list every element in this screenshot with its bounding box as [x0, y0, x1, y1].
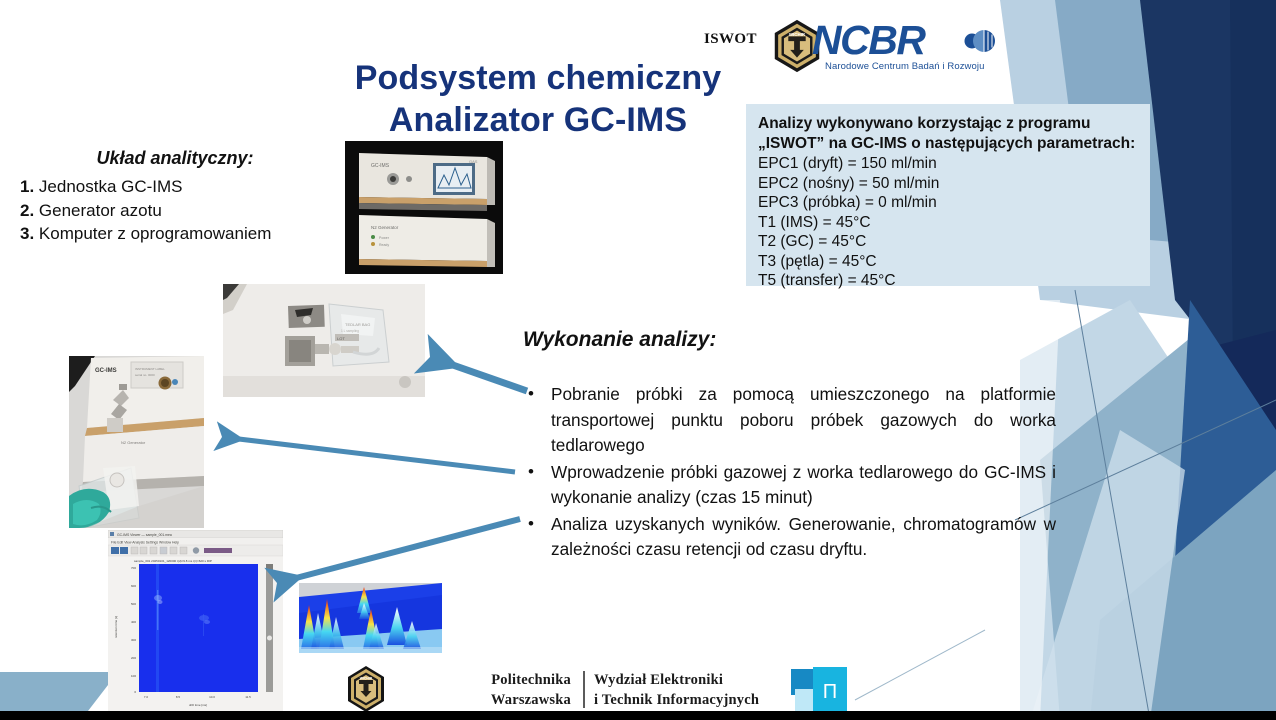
svg-text:GAS: GAS [469, 159, 478, 164]
iswot-label: ISWOT [704, 31, 757, 48]
param-line-t1: T1 (IMS) = 45°C [758, 213, 1150, 233]
list-item: • Pobranie próbki za pomocą umieszczoneg… [521, 382, 1056, 459]
svg-text:Ready: Ready [379, 243, 389, 247]
svg-text:7.0: 7.0 [144, 695, 149, 699]
bullet-icon: • [528, 381, 534, 407]
svg-text:GC-IMS: GC-IMS [95, 368, 117, 374]
svg-text:LOT: LOT [337, 336, 345, 341]
bg-shape-navy-top [1140, 0, 1276, 430]
uklad-item-number: 1. [20, 177, 34, 196]
svg-text:WICHIR: WICHIR [360, 677, 373, 681]
ncbr-dot-mark [964, 27, 1002, 55]
parameters-panel: Analizy wykonywano korzystając z program… [746, 104, 1150, 286]
svg-text:10.0: 10.0 [209, 695, 215, 699]
wykonanie-item-text: Analiza uzyskanych wyników. Generowanie,… [551, 514, 1056, 560]
svg-text:N2 Generator: N2 Generator [371, 225, 399, 230]
param-line-t3: T3 (pętla) = 45°C [758, 252, 1150, 272]
param-line-t5: T5 (transfer) = 45°C [758, 271, 1150, 291]
uklad-item-number: 3. [20, 224, 34, 243]
bullet-icon: • [528, 459, 534, 485]
ncbr-subtitle: Narodowe Centrum Badań i Rozwoju [825, 61, 985, 72]
bullet-icon: • [528, 511, 534, 537]
pw-line-2: Warszawska [479, 690, 571, 710]
svg-text:GC-IMS Viewer — sample_001.mea: GC-IMS Viewer — sample_001.mea [117, 533, 172, 537]
svg-text:sample_001 20250101_120000 t: sample_001 20250101_120000 t(d)=9.8 ms t… [134, 559, 212, 563]
gc-ims-unit-photo: GC-IMS GAS N2 Generator Power Ready [345, 141, 503, 274]
list-item: • Analiza uzyskanych wyników. Generowani… [521, 512, 1056, 563]
logo-divider [583, 671, 585, 708]
svg-text:N2 Generator: N2 Generator [121, 440, 146, 445]
tt-logo: Π [789, 665, 863, 715]
software-heatmap-photo: GC-IMS Viewer — sample_001.mea File Edit… [108, 530, 283, 712]
bg-shape-steel-lower [1090, 470, 1276, 720]
pw-line-1: Politechnika [479, 670, 571, 690]
bg-shape-left-bottom [0, 672, 118, 711]
faculty-name: Wydział Elektroniki i Technik Informacyj… [594, 670, 759, 710]
wykonanie-item-text: Wprowadzenie próbki gazowej z worka tedl… [551, 462, 1056, 508]
arrow-to-bag [430, 357, 527, 391]
arrow-to-chromatogram [277, 519, 520, 583]
svg-text:drift time [ms]: drift time [ms] [189, 703, 207, 707]
bg-shape-navy-right [1230, 0, 1276, 720]
svg-text:INSTRUMENT LABEL: INSTRUMENT LABEL [135, 367, 165, 371]
svg-text:500: 500 [131, 602, 136, 606]
wykonanie-analizy-list: • Pobranie próbki za pomocą umieszczoneg… [521, 382, 1056, 564]
faculty-line-2: i Technik Informacyjnych [594, 690, 759, 710]
title-line-1: Podsystem chemiczny [228, 57, 848, 99]
wykonanie-analizy-title: Wykonanie analizy: [523, 328, 716, 352]
svg-text:WICHIR: WICHIR [789, 32, 806, 37]
bg-hairline-3 [855, 630, 985, 700]
param-line-epc3: EPC3 (próbka) = 0 ml/min [758, 193, 1150, 213]
list-item: 2. Generator azotu [20, 199, 350, 223]
ncbr-wordmark: NCBR [812, 20, 924, 61]
list-item: 1. Jednostka GC-IMS [20, 175, 350, 199]
svg-text:100: 100 [131, 674, 136, 678]
param-line-t2: T2 (GC) = 45°C [758, 232, 1150, 252]
svg-text:Power: Power [379, 236, 390, 240]
uklad-item-number: 2. [20, 201, 34, 220]
params-heading-line-1: Analizy wykonywano korzystając z program… [758, 114, 1150, 134]
svg-text:GC-IMS: GC-IMS [371, 163, 390, 169]
uklad-analityczny-title: Układ analityczny: [20, 148, 330, 169]
param-line-epc1: EPC1 (dryft) = 150 ml/min [758, 154, 1150, 174]
list-item: 3. Komputer z oprogramowaniem [20, 222, 350, 246]
svg-text:1 L sampling: 1 L sampling [341, 329, 359, 333]
params-heading-line-2: „ISWOT” na GC-IMS o następujących parame… [758, 134, 1150, 154]
slide-bottom-bar [0, 711, 1276, 720]
gloved-hand-photo: GC-IMS INSTRUMENT LABEL serial no. 0000 … [69, 356, 204, 528]
svg-text:400: 400 [131, 620, 136, 624]
param-line-epc2: EPC2 (nośny) = 50 ml/min [758, 174, 1150, 194]
wykonanie-item-text: Pobranie próbki za pomocą umieszczonego … [551, 384, 1056, 455]
uklad-item-label: Jednostka GC-IMS [39, 177, 183, 196]
tt-label: Π [823, 681, 837, 703]
bg-hairline-1 [1075, 290, 1150, 720]
presentation-slide: ISWOT WICHIR NCBR Narodowe Centrum Badań… [0, 0, 1276, 720]
bg-shape-navy-wedge [1160, 330, 1276, 520]
svg-text:300: 300 [131, 638, 136, 642]
svg-text:retention time [s]: retention time [s] [114, 616, 118, 638]
bg-shape-mid-blue [1175, 300, 1276, 690]
svg-text:TEDLAR BAG: TEDLAR BAG [345, 322, 370, 327]
svg-text:200: 200 [131, 656, 136, 660]
list-item: • Wprowadzenie próbki gazowej z worka te… [521, 460, 1056, 511]
svg-text:700: 700 [131, 566, 136, 570]
uklad-item-label: Komputer z oprogramowaniem [39, 224, 271, 243]
svg-text:600: 600 [131, 584, 136, 588]
uklad-item-label: Generator azotu [39, 201, 162, 220]
svg-text:8.5: 8.5 [176, 695, 181, 699]
wichir-seal-footer-icon: WICHIR [344, 664, 388, 714]
politechnika-warszawska-logo: Politechnika Warszawska Wydział Elektron… [479, 670, 779, 712]
bg-shape-pale-mid [1020, 300, 1276, 720]
uklad-analityczny-list: 1. Jednostka GC-IMS 2. Generator azotu 3… [20, 175, 350, 246]
svg-text:11.5: 11.5 [245, 695, 251, 699]
arrow-to-hand [222, 437, 515, 472]
bg-shape-steel-mid [1040, 330, 1276, 720]
svg-text:File Edit View Analysis Se: File Edit View Analysis Settings Window … [111, 541, 179, 545]
faculty-line-1: Wydział Elektroniki [594, 670, 759, 690]
svg-text:serial no. 0000: serial no. 0000 [135, 373, 155, 377]
pw-name: Politechnika Warszawska [479, 670, 571, 710]
tedlar-bag-photo: TEDLAR BAG 1 L sampling LOT [223, 284, 425, 397]
3d-peaks-photo [299, 583, 442, 653]
